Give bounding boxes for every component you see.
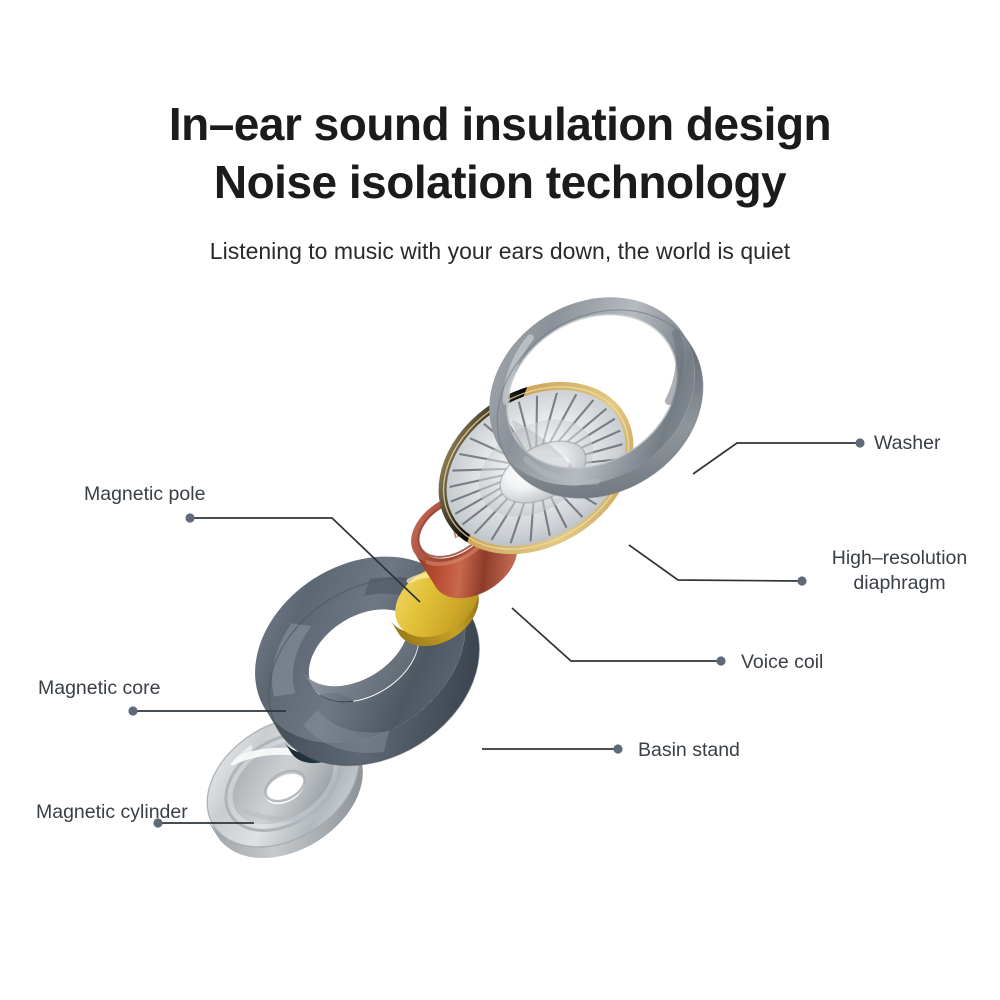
- leader-line-voice-coil: [512, 608, 719, 661]
- leader-dot-magnetic-core: [128, 706, 137, 715]
- page-root: In–ear sound insulation design Noise iso…: [0, 0, 1000, 1000]
- leader-dot-diaphragm: [797, 576, 806, 585]
- label-diaphragm-line-2: diaphragm: [812, 571, 987, 596]
- label-magnetic-cylinder: Magnetic cylinder: [36, 800, 188, 825]
- label-washer: Washer: [874, 431, 940, 456]
- leader-dot-magnetic-pole: [185, 513, 194, 522]
- leader-dot-voice-coil: [716, 656, 725, 665]
- leader-line-diaphragm: [629, 545, 800, 581]
- leader-dot-washer: [855, 438, 864, 447]
- label-magnetic-pole: Magnetic pole: [84, 482, 205, 507]
- label-magnetic-core: Magnetic core: [38, 676, 160, 701]
- label-diaphragm-line-1: High–resolution: [812, 546, 987, 571]
- exploded-diagram: Washer High–resolution diaphragm Voice c…: [0, 0, 1000, 1000]
- label-basin-stand: Basin stand: [638, 738, 740, 763]
- leader-dot-basin-stand: [613, 744, 622, 753]
- label-voice-coil: Voice coil: [741, 650, 823, 675]
- label-high-resolution-diaphragm: High–resolution diaphragm: [812, 546, 987, 596]
- leader-line-washer: [693, 443, 858, 474]
